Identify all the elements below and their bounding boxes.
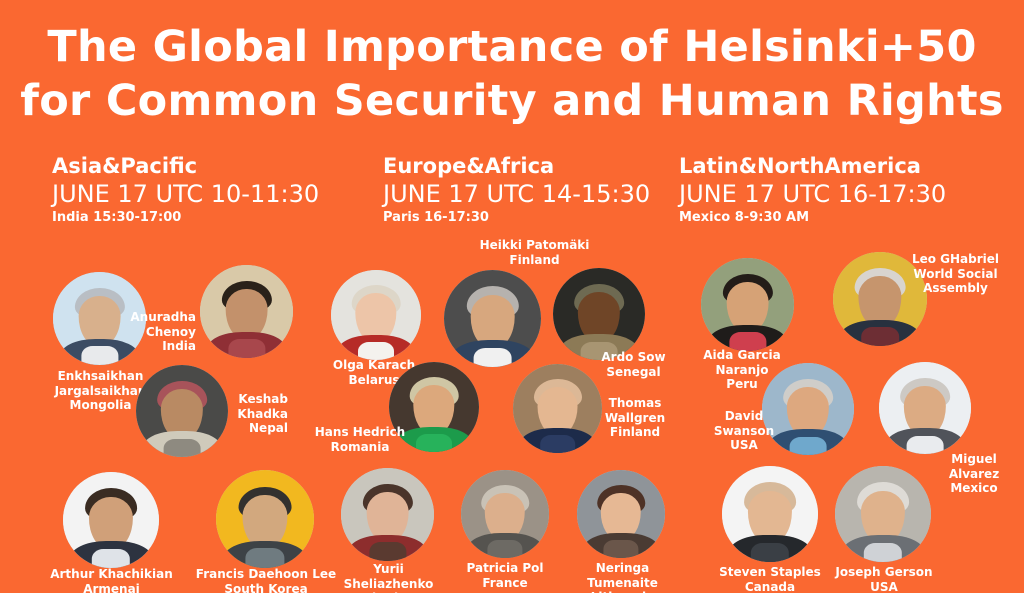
portrait-image: [577, 470, 665, 558]
session-local-label: India 15:30-17:00: [52, 210, 319, 226]
session-utc-label: JUNE 17 UTC 10-11:30: [52, 180, 319, 208]
speaker-name-label: Anuradha Chenoy India: [128, 310, 196, 354]
speaker-name-label: David Swanson USA: [706, 409, 782, 453]
portrait-image: [701, 258, 794, 351]
session-region-label: Asia&Pacific: [52, 155, 319, 179]
speaker-name-label: Miguel Alvarez Mexico: [931, 452, 1017, 496]
speaker-name-label: Patricia Pol France: [457, 561, 553, 590]
speaker-name-label: Leo GHabriel World Social Assembly: [903, 252, 1008, 296]
session-header-asia-pacific: Asia&Pacific JUNE 17 UTC 10-11:30 India …: [52, 155, 319, 225]
speaker-avatar: [722, 466, 818, 562]
session-local-label: Mexico 8-9:30 AM: [679, 210, 946, 226]
speaker-name-label: Joseph Gerson USA: [829, 565, 939, 593]
session-utc-label: JUNE 17 UTC 14-15:30: [383, 180, 650, 208]
speaker-avatar: [63, 472, 159, 568]
speaker-name-label: Neringa Tumenaite Lithuania: [565, 561, 680, 593]
speaker-name-label: Thomas Wallgren Finland: [592, 396, 678, 440]
speaker-avatar: [701, 258, 794, 351]
portrait-image: [553, 268, 645, 360]
speaker-avatar: [835, 466, 931, 562]
session-region-label: Latin&NorthAmerica: [679, 155, 946, 179]
portrait-image: [136, 365, 228, 457]
speaker-name-label: Yurii Sheliazhenko Ukraine: [331, 562, 446, 593]
portrait-image: [341, 468, 434, 561]
portrait-image: [200, 265, 293, 358]
title-line-2: for Common Security and Human Rights: [0, 74, 1024, 128]
speaker-name-label: Francis Daehoon Lee South Korea: [195, 567, 337, 593]
portrait-image: [216, 470, 314, 568]
page-title: The Global Importance of Helsinki+50 for…: [0, 20, 1024, 128]
portrait-image: [722, 466, 818, 562]
portrait-image: [879, 362, 971, 454]
portrait-image: [835, 466, 931, 562]
speaker-avatar: [216, 470, 314, 568]
speaker-avatar: [513, 364, 602, 453]
portrait-image: [63, 472, 159, 568]
speaker-avatar: [136, 365, 228, 457]
speaker-avatar: [879, 362, 971, 454]
portrait-image: [331, 270, 421, 360]
session-local-label: Paris 16-17:30: [383, 210, 650, 226]
session-utc-label: JUNE 17 UTC 16-17:30: [679, 180, 946, 208]
speaker-avatar: [341, 468, 434, 561]
portrait-image: [461, 470, 549, 558]
speaker-name-label: Keshab Khadka Nepal: [224, 392, 288, 436]
title-line-1: The Global Importance of Helsinki+50: [0, 20, 1024, 74]
session-region-label: Europe&Africa: [383, 155, 650, 179]
speaker-name-label: Hans Hedrich Romania: [312, 425, 408, 454]
speaker-avatar: [200, 265, 293, 358]
speaker-avatar: [553, 268, 645, 360]
speaker-name-label: Steven Staples Canada: [714, 565, 826, 593]
speaker-avatar: [577, 470, 665, 558]
speaker-avatar: [444, 270, 541, 367]
session-header-latin-north-america: Latin&NorthAmerica JUNE 17 UTC 16-17:30 …: [679, 155, 946, 225]
portrait-image: [444, 270, 541, 367]
portrait-image: [513, 364, 602, 453]
speaker-avatar: [461, 470, 549, 558]
speaker-name-label: Heikki Patomäki Finland: [452, 238, 617, 267]
poster-canvas: The Global Importance of Helsinki+50 for…: [0, 0, 1024, 593]
session-header-europe-africa: Europe&Africa JUNE 17 UTC 14-15:30 Paris…: [383, 155, 650, 225]
speaker-avatar: [331, 270, 421, 360]
speaker-name-label: Arthur Khachikian Armenai: [34, 567, 189, 593]
